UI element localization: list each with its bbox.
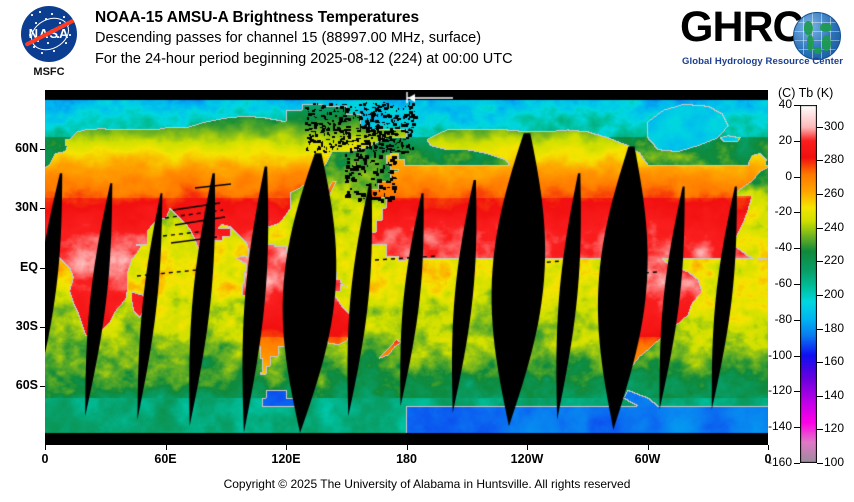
colorbar-label-kelvin: 220 xyxy=(824,253,844,267)
x-axis-label: 60E xyxy=(148,452,184,466)
colorbar-label-kelvin: 180 xyxy=(824,321,844,335)
x-axis-tick xyxy=(286,445,287,450)
y-axis-label: 60N xyxy=(0,141,38,155)
nasa-insignia-icon: NASA xyxy=(21,6,77,62)
y-axis-label: EQ xyxy=(0,260,38,274)
colorbar-label-kelvin: 160 xyxy=(824,354,844,368)
ghrc-wordmark: GHRC xyxy=(680,4,803,50)
x-axis-tick xyxy=(527,445,528,450)
colorbar-label-kelvin: 280 xyxy=(824,152,844,166)
colorbar-tick-kelvin xyxy=(817,261,823,262)
colorbar-tick-kelvin xyxy=(817,228,823,229)
colorbar-label-kelvin: 240 xyxy=(824,220,844,234)
colorbar-tick-kelvin xyxy=(817,329,823,330)
colorbar-gradient xyxy=(800,105,817,463)
y-axis-tick xyxy=(40,327,45,328)
x-axis-tick xyxy=(45,445,46,450)
colorbar-tick-kelvin xyxy=(817,127,823,128)
page-title: NOAA-15 AMSU-A Brightness Temperatures xyxy=(95,8,513,28)
x-axis-label: 120E xyxy=(268,452,304,466)
title-block: NOAA-15 AMSU-A Brightness Temperatures D… xyxy=(95,8,513,70)
page-subtitle-period: For the 24-hour period beginning 2025-08… xyxy=(95,49,513,70)
colorbar-label-celsius: -60 xyxy=(752,276,792,290)
colorbar-label-celsius: -120 xyxy=(752,383,792,397)
colorbar-label-kelvin: 200 xyxy=(824,287,844,301)
copyright-text: Copyright © 2025 The University of Alaba… xyxy=(0,477,854,491)
colorbar-tick-celsius xyxy=(794,105,800,106)
colorbar-tick-celsius xyxy=(794,141,800,142)
colorbar-tick-kelvin xyxy=(817,463,823,464)
colorbar-tick-kelvin xyxy=(817,429,823,430)
colorbar-label-kelvin: 260 xyxy=(824,186,844,200)
colorbar-tick-kelvin xyxy=(817,160,823,161)
colorbar-tick-celsius xyxy=(794,391,800,392)
x-axis-label: 0 xyxy=(27,452,63,466)
colorbar-label-kelvin: 120 xyxy=(824,421,844,435)
colorbar-tick-kelvin xyxy=(817,396,823,397)
colorbar-tick-celsius xyxy=(794,320,800,321)
y-axis-label: 60S xyxy=(0,378,38,392)
page-subtitle-channel: Descending passes for channel 15 (88997.… xyxy=(95,28,513,49)
colorbar-tick-celsius xyxy=(794,177,800,178)
colorbar-tick-celsius xyxy=(794,212,800,213)
colorbar-label-kelvin: 140 xyxy=(824,388,844,402)
colorbar-tick-kelvin xyxy=(817,362,823,363)
x-axis-tick xyxy=(648,445,649,450)
y-axis-tick xyxy=(40,268,45,269)
colorbar-label-celsius: 40 xyxy=(752,97,792,111)
colorbar-label-kelvin: 300 xyxy=(824,119,844,133)
colorbar-tick-celsius xyxy=(794,427,800,428)
x-axis-tick xyxy=(407,445,408,450)
y-axis-label: 30S xyxy=(0,319,38,333)
x-axis-tick xyxy=(166,445,167,450)
colorbar-tick-celsius xyxy=(794,248,800,249)
colorbar-label-celsius: -40 xyxy=(752,240,792,254)
y-axis-tick xyxy=(40,149,45,150)
colorbar xyxy=(800,105,817,463)
x-axis-label: 120W xyxy=(509,452,545,466)
map-raster xyxy=(45,90,768,445)
colorbar-label-celsius: 20 xyxy=(752,133,792,147)
x-axis-label: 180 xyxy=(389,452,425,466)
colorbar-label-kelvin: 100 xyxy=(824,455,844,469)
colorbar-label-celsius: -100 xyxy=(752,348,792,362)
y-axis-label: 30N xyxy=(0,200,38,214)
colorbar-tick-celsius xyxy=(794,284,800,285)
y-axis-tick xyxy=(40,386,45,387)
x-axis-label: 60W xyxy=(630,452,666,466)
colorbar-label-celsius: -80 xyxy=(752,312,792,326)
colorbar-tick-kelvin xyxy=(817,295,823,296)
nasa-center-label: MSFC xyxy=(13,66,85,78)
brightness-temperature-map xyxy=(45,90,768,445)
y-axis-tick xyxy=(40,208,45,209)
ghrc-logo: GHRC Global Hydrology Resource Center xyxy=(680,4,845,78)
x-axis-label: 0 xyxy=(750,452,786,466)
colorbar-label-celsius: -140 xyxy=(752,419,792,433)
colorbar-label-celsius: 0 xyxy=(752,169,792,183)
x-axis-tick xyxy=(768,445,769,450)
ghrc-tagline: Global Hydrology Resource Center xyxy=(682,56,843,67)
colorbar-tick-celsius xyxy=(794,463,800,464)
colorbar-tick-celsius xyxy=(794,356,800,357)
globe-icon xyxy=(793,12,841,60)
colorbar-tick-kelvin xyxy=(817,194,823,195)
nasa-logo: NASA MSFC xyxy=(13,6,85,84)
colorbar-label-celsius: -20 xyxy=(752,204,792,218)
